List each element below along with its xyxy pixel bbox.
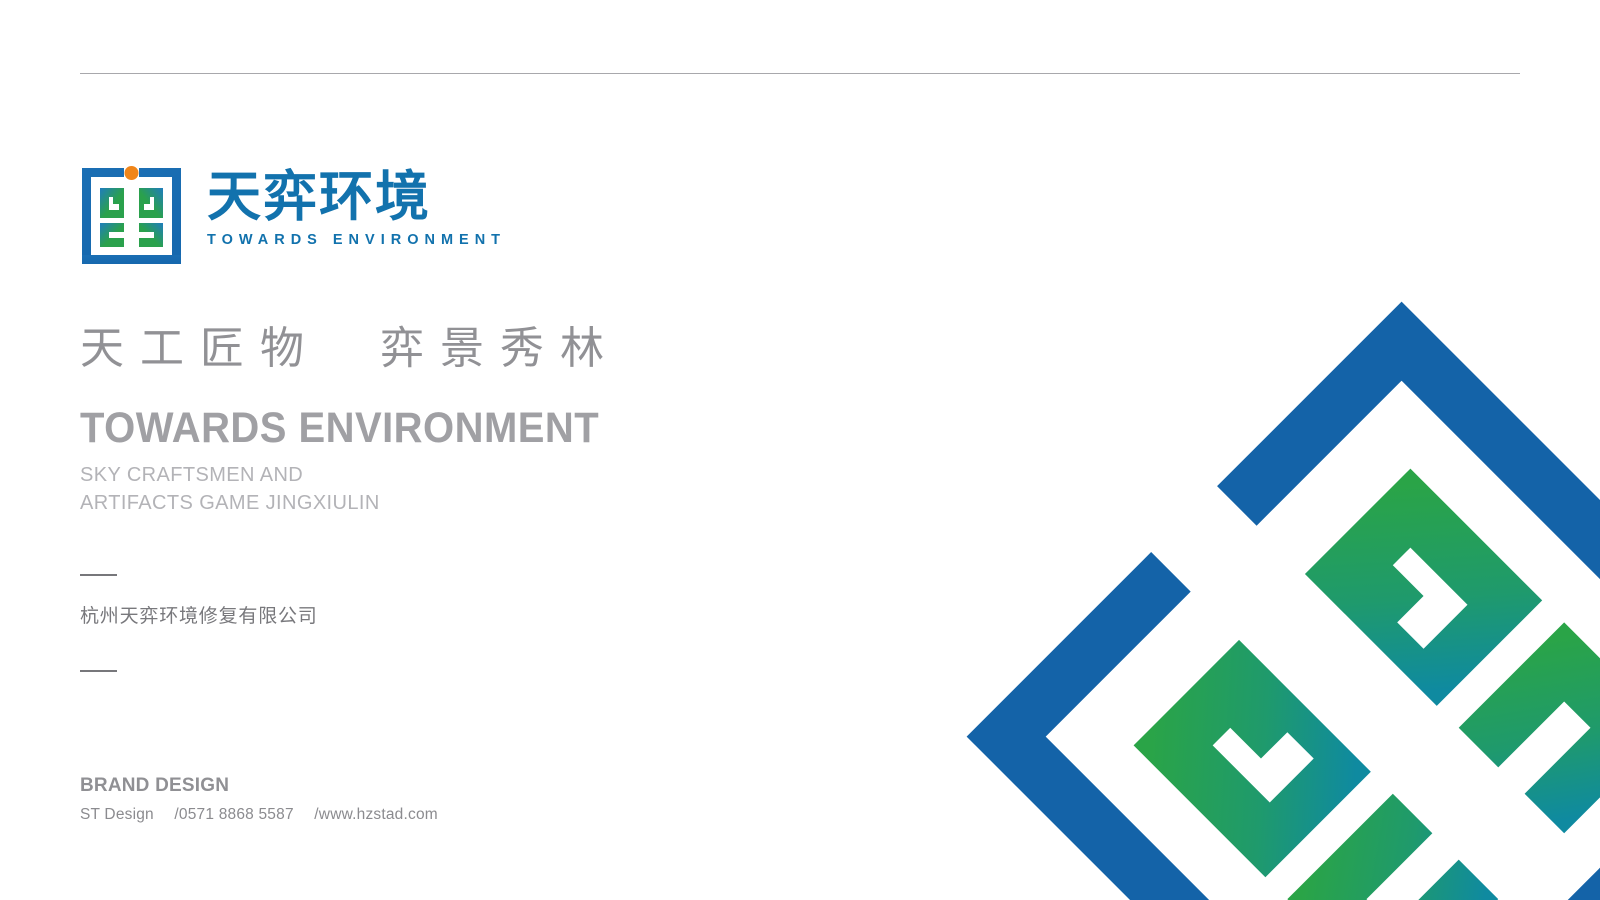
footer-contact-line: ST Design /0571 8868 5587 /www.hzstad.co… [80, 805, 438, 824]
footer-title: BRAND DESIGN [80, 774, 438, 798]
headline-chinese-slogan: 天工匠物 弈景秀林 [80, 325, 620, 373]
subline-2: ARTIFACTS GAME JINGXIULIN [80, 490, 380, 518]
logo-english-name: TOWARDS ENVIRONMENT [207, 233, 506, 248]
logo-chinese-name: 天弈环境 [207, 170, 506, 224]
footer-phone: /0571 8868 5587 [174, 806, 293, 823]
top-divider-rule [80, 73, 1520, 74]
brand-cover-page: 天弈环境 TOWARDS ENVIRONMENT 天工匠物 弈景秀林 TOWAR… [0, 0, 1600, 900]
rule-above-company [80, 574, 117, 576]
footer-website[interactable]: /www.hzstad.com [314, 806, 438, 823]
headline-sublines: SKY CRAFTSMEN AND ARTIFACTS GAME JINGXIU… [80, 462, 380, 517]
company-legal-name: 杭州天弈环境修复有限公司 [80, 605, 318, 628]
headline-english: TOWARDS ENVIRONMENT [80, 405, 599, 452]
logo-wordmark: 天弈环境 TOWARDS ENVIRONMENT [207, 166, 506, 248]
corner-decoration-rotated-logo-icon [942, 277, 1600, 900]
footer-block: BRAND DESIGN ST Design /0571 8868 5587 /… [80, 774, 438, 824]
logo-mark-icon [80, 166, 183, 266]
subline-1: SKY CRAFTSMEN AND [80, 462, 380, 490]
rule-below-company [80, 670, 117, 672]
brand-logo-lockup: 天弈环境 TOWARDS ENVIRONMENT [80, 166, 506, 266]
footer-studio: ST Design [80, 806, 154, 823]
logo-dot-icon [125, 166, 139, 180]
